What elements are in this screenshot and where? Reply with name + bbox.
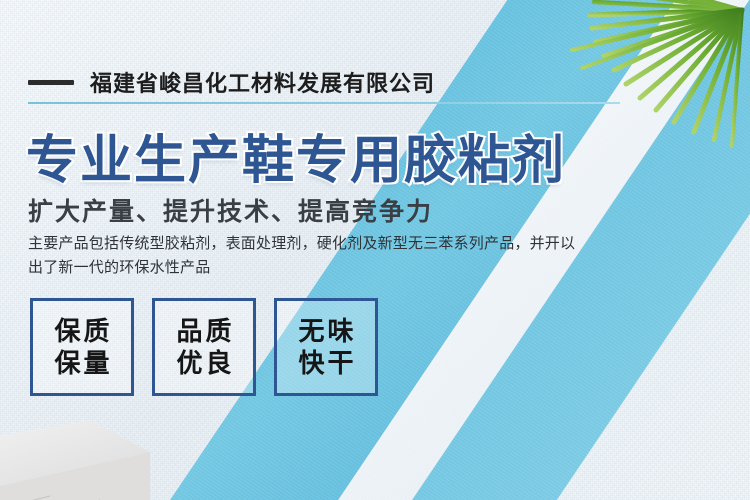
promo-banner: 福建省峻昌化工材料发展有限公司 专业生产鞋专用胶粘剂 扩大产量、提升技术、提高竞… <box>0 0 750 500</box>
divider-rule <box>28 102 620 104</box>
feature-box-group: 保质 保量 品质 优良 无味 快干 <box>30 298 378 396</box>
company-row: 福建省峻昌化工材料发展有限公司 <box>28 66 435 98</box>
subtitle: 扩大产量、提升技术、提高竞争力 <box>28 192 433 228</box>
feature-box-line-2: 快干 <box>295 347 356 379</box>
feature-box-line-2: 优良 <box>173 347 234 379</box>
feature-box: 保质 保量 <box>30 298 134 396</box>
page-title: 专业生产鞋专用胶粘剂 <box>26 118 566 193</box>
dash-icon <box>28 80 74 85</box>
feature-box-line-2: 保量 <box>51 347 112 379</box>
description-line-2: 出了新一代的环保水性产品 <box>28 256 628 280</box>
feature-box: 品质 优良 <box>152 298 256 396</box>
company-name: 福建省峻昌化工材料发展有限公司 <box>90 66 435 98</box>
feature-box: 无味 快干 <box>274 298 378 396</box>
description-line-1: 主要产品包括传统型胶粘剂，表面处理剂，硬化剂及新型无三苯系列产品，并开以 <box>28 232 628 256</box>
banner-content: 福建省峻昌化工材料发展有限公司 专业生产鞋专用胶粘剂 扩大产量、提升技术、提高竞… <box>28 0 668 500</box>
description: 主要产品包括传统型胶粘剂，表面处理剂，硬化剂及新型无三苯系列产品，并开以 出了新… <box>28 232 628 280</box>
feature-box-line-1: 无味 <box>295 315 356 347</box>
feature-box-line-1: 保质 <box>51 315 112 347</box>
feature-box-line-1: 品质 <box>173 315 234 347</box>
